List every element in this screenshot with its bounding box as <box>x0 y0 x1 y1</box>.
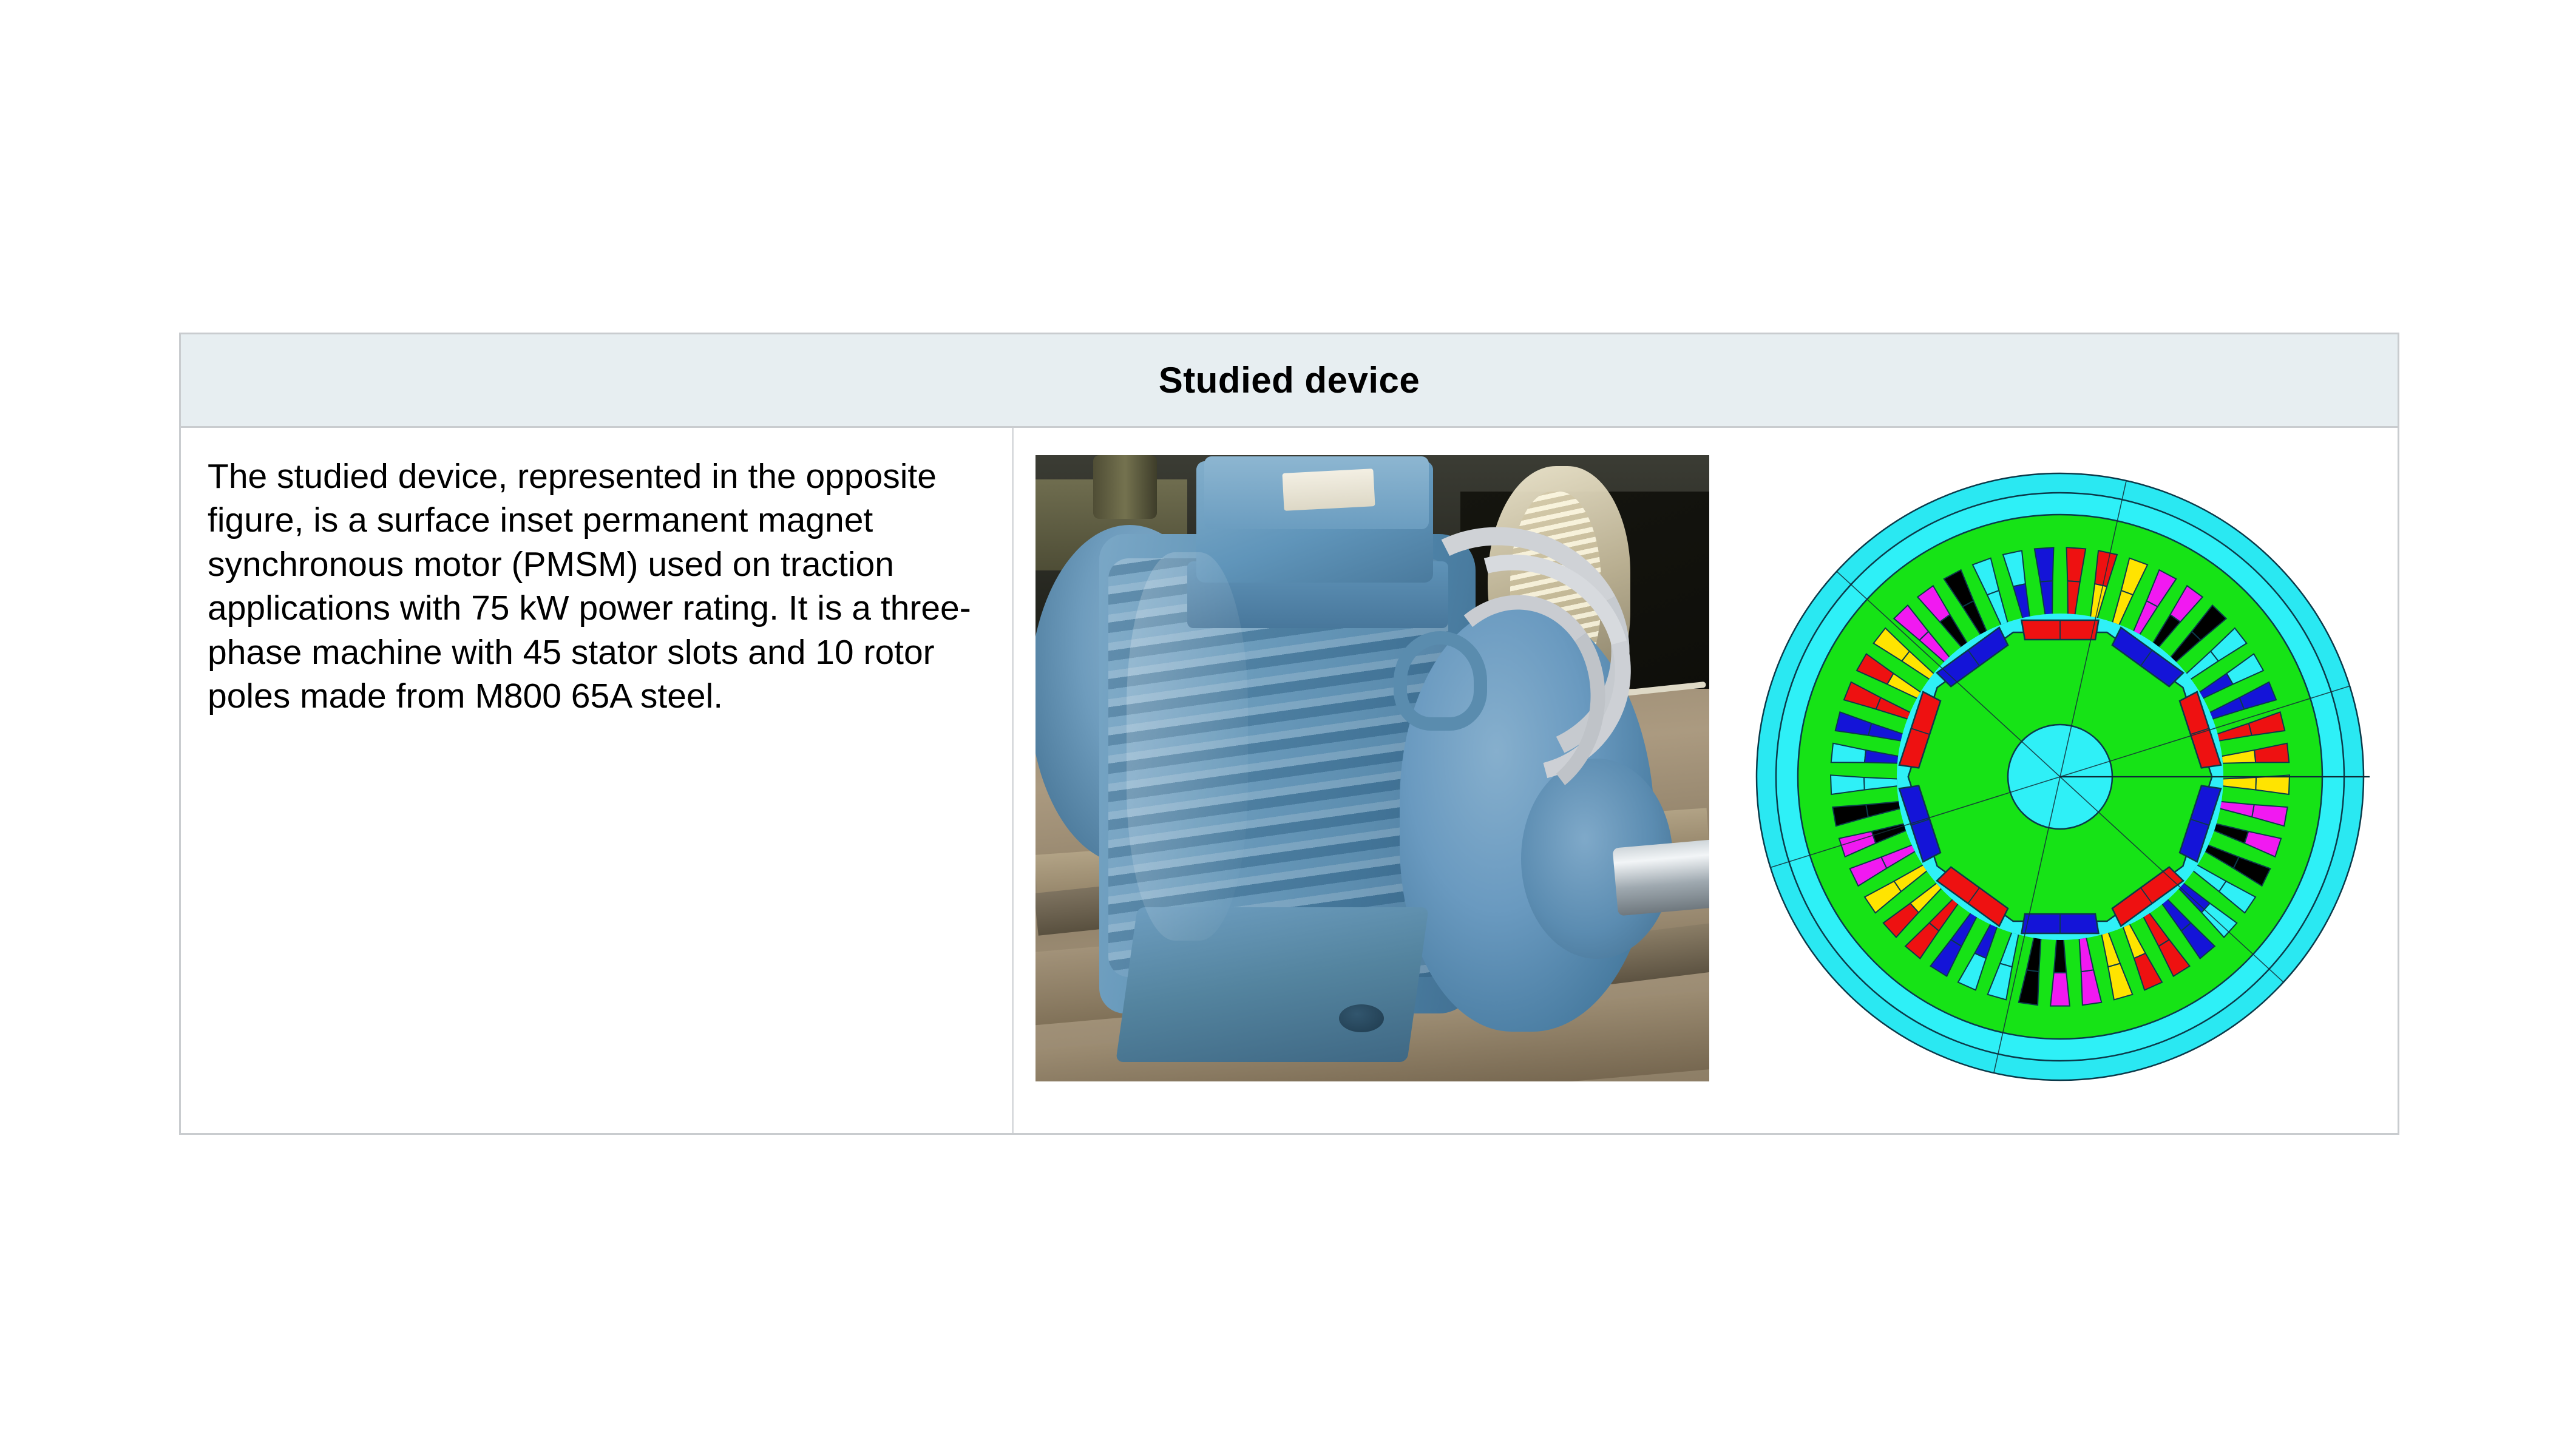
description-cell: The studied device, represented in the o… <box>181 428 1014 1133</box>
motor-photograph <box>1035 455 1709 1081</box>
photo-beam-cylinder <box>1093 455 1157 519</box>
studied-device-table: Studied device The studied device, repre… <box>179 333 2399 1135</box>
motor-cross-section-diagram <box>1738 455 2382 1098</box>
table-header: Studied device <box>181 334 2398 428</box>
cross-section-svg <box>1738 455 2382 1098</box>
figures-cell <box>1014 428 2398 1133</box>
photo-highlight <box>1127 552 1248 941</box>
photo-foot-bolt-hole <box>1339 1004 1384 1032</box>
page-title: Studied device <box>1159 359 1420 401</box>
photo-motor-shaft <box>1612 839 1709 916</box>
table-body-row: The studied device, represented in the o… <box>181 428 2398 1133</box>
device-description: The studied device, represented in the o… <box>208 455 984 718</box>
photo-nameplate-label <box>1282 468 1375 511</box>
screenshot-canvas: Studied device The studied device, repre… <box>0 0 2576 1451</box>
